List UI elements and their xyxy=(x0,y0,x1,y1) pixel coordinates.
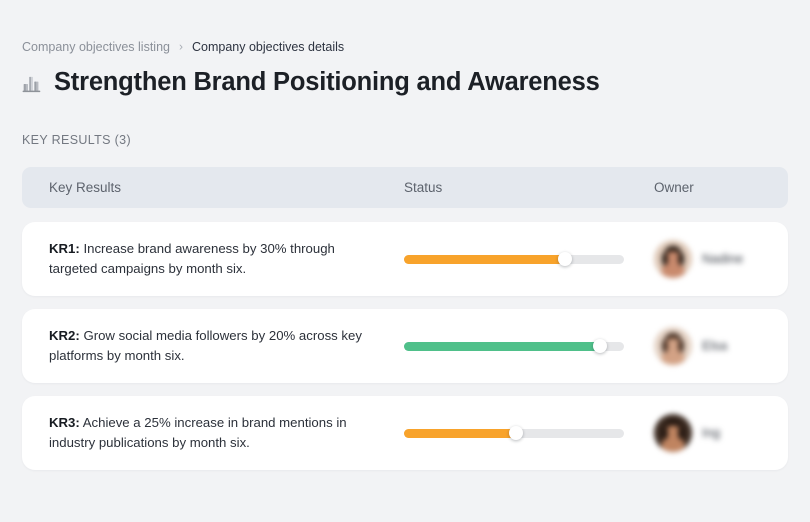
owner-cell: Elsa xyxy=(654,327,788,365)
breadcrumb-current: Company objectives details xyxy=(192,38,344,56)
avatar xyxy=(654,240,692,278)
key-results-section-label: KEY RESULTS (3) xyxy=(22,131,131,149)
avatar-photo xyxy=(654,327,692,365)
key-result-description: Grow social media followers by 20% acros… xyxy=(49,328,362,363)
key-result-text: KR2: Grow social media followers by 20% … xyxy=(49,326,386,366)
avatar-photo xyxy=(654,414,692,452)
key-result-label: KR3: xyxy=(49,415,80,430)
chevron-right-icon: › xyxy=(179,38,183,56)
progress-bar[interactable] xyxy=(404,429,624,438)
key-result-cell: KR2: Grow social media followers by 20% … xyxy=(22,326,404,366)
progress-thumb[interactable] xyxy=(558,252,572,266)
table-row[interactable]: KR3: Achieve a 25% increase in brand men… xyxy=(22,396,788,470)
key-result-description: Increase brand awareness by 30% through … xyxy=(49,241,335,276)
page-header: Strengthen Brand Positioning and Awarene… xyxy=(21,65,600,99)
avatar xyxy=(654,327,692,365)
page-root: Company objectives listing › Company obj… xyxy=(0,0,810,522)
office-building-icon xyxy=(21,73,43,95)
key-results-table: Key Results Status Owner KR1: Increase b… xyxy=(22,167,788,483)
breadcrumb: Company objectives listing › Company obj… xyxy=(22,38,344,56)
status-cell xyxy=(404,429,654,438)
column-header-key-results: Key Results xyxy=(22,179,404,197)
column-header-owner: Owner xyxy=(654,179,788,197)
table-body: KR1: Increase brand awareness by 30% thr… xyxy=(22,222,788,470)
avatar-photo xyxy=(654,240,692,278)
key-result-text: KR1: Increase brand awareness by 30% thr… xyxy=(49,239,386,279)
key-result-label: KR2: xyxy=(49,328,80,343)
status-cell xyxy=(404,342,654,351)
owner-name: Elsa xyxy=(702,337,727,355)
key-result-cell: KR1: Increase brand awareness by 30% thr… xyxy=(22,239,404,279)
progress-fill xyxy=(404,429,516,438)
status-cell xyxy=(404,255,654,264)
table-row[interactable]: KR2: Grow social media followers by 20% … xyxy=(22,309,788,383)
table-row[interactable]: KR1: Increase brand awareness by 30% thr… xyxy=(22,222,788,296)
owner-name: Ing xyxy=(702,424,720,442)
key-result-cell: KR3: Achieve a 25% increase in brand men… xyxy=(22,413,404,453)
table-header-row: Key Results Status Owner xyxy=(22,167,788,208)
key-result-label: KR1: xyxy=(49,241,80,256)
owner-cell: Nadine xyxy=(654,240,788,278)
key-result-description: Achieve a 25% increase in brand mentions… xyxy=(49,415,347,450)
progress-fill xyxy=(404,342,600,351)
progress-fill xyxy=(404,255,565,264)
progress-thumb[interactable] xyxy=(509,426,523,440)
progress-thumb[interactable] xyxy=(593,339,607,353)
progress-bar[interactable] xyxy=(404,342,624,351)
owner-name: Nadine xyxy=(702,250,743,268)
progress-bar[interactable] xyxy=(404,255,624,264)
owner-cell: Ing xyxy=(654,414,788,452)
breadcrumb-parent-link[interactable]: Company objectives listing xyxy=(22,38,170,56)
page-title: Strengthen Brand Positioning and Awarene… xyxy=(54,65,600,99)
key-result-text: KR3: Achieve a 25% increase in brand men… xyxy=(49,413,386,453)
avatar xyxy=(654,414,692,452)
column-header-status: Status xyxy=(404,179,654,197)
